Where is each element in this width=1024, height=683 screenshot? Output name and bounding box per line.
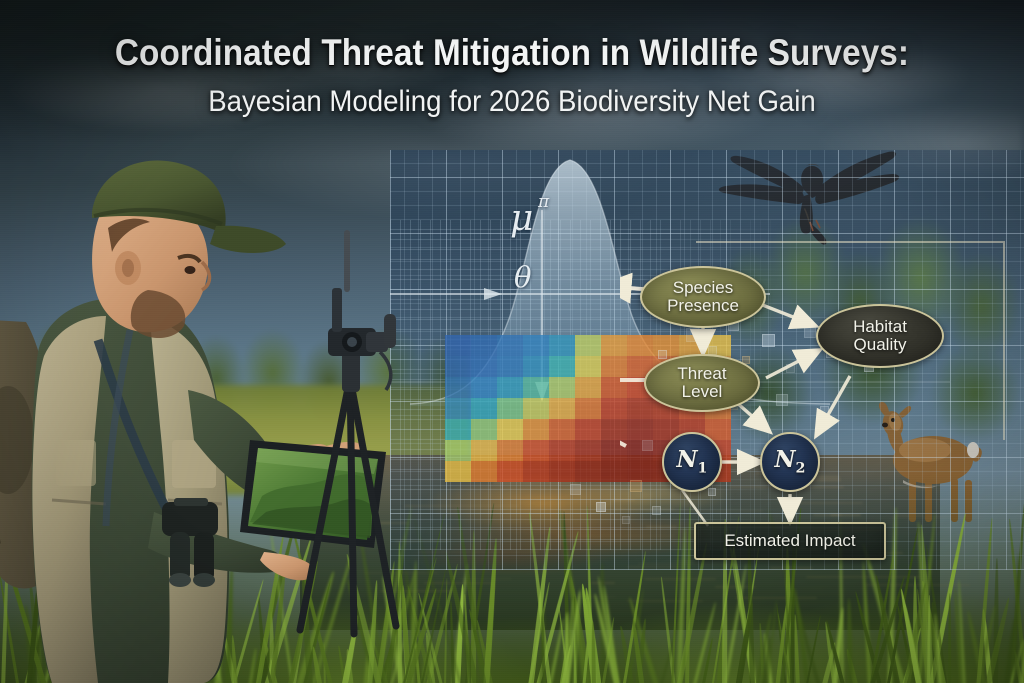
- node-habitat-quality-line1: Habitat: [853, 317, 907, 336]
- node-threat-level[interactable]: Threat Level: [644, 354, 760, 412]
- poster-canvas: μ π θ: [0, 0, 1024, 683]
- node-estimated-impact[interactable]: Estimated Impact: [694, 522, 886, 560]
- data-square: [570, 484, 581, 495]
- node-n2-subscript: 2: [796, 460, 806, 476]
- node-n1[interactable]: N1: [662, 432, 722, 492]
- node-n1-symbol: N: [677, 446, 698, 473]
- node-habitat-quality[interactable]: Habitat Quality: [816, 304, 944, 368]
- battery-grip: [384, 314, 396, 348]
- data-square: [596, 502, 606, 512]
- bayesian-network-diagram: Species Presence Habitat Quality Threat …: [620, 250, 1024, 570]
- node-species-presence-line1: Species: [673, 278, 733, 297]
- node-n2[interactable]: N2: [760, 432, 820, 492]
- node-threat-level-line1: Threat: [677, 364, 726, 383]
- main-title: Coordinated Threat Mitigation in Wildlif…: [51, 32, 973, 74]
- tripod-camera-rig: [288, 228, 418, 648]
- node-species-presence[interactable]: Species Presence: [640, 266, 766, 328]
- node-species-presence-line2: Presence: [667, 296, 739, 315]
- subtitle: Bayesian Modeling for 2026 Biodiversity …: [41, 85, 983, 119]
- binoculars: [162, 498, 218, 587]
- node-n1-subscript: 1: [698, 460, 708, 476]
- node-threat-level-line2: Level: [682, 382, 723, 401]
- node-habitat-quality-line2: Quality: [854, 335, 907, 354]
- node-n2-symbol: N: [775, 446, 796, 473]
- cap-brim: [210, 226, 286, 253]
- node-estimated-impact-label: Estimated Impact: [724, 532, 855, 550]
- antenna: [344, 230, 350, 292]
- title-block: Coordinated Threat Mitigation in Wildlif…: [0, 0, 1024, 119]
